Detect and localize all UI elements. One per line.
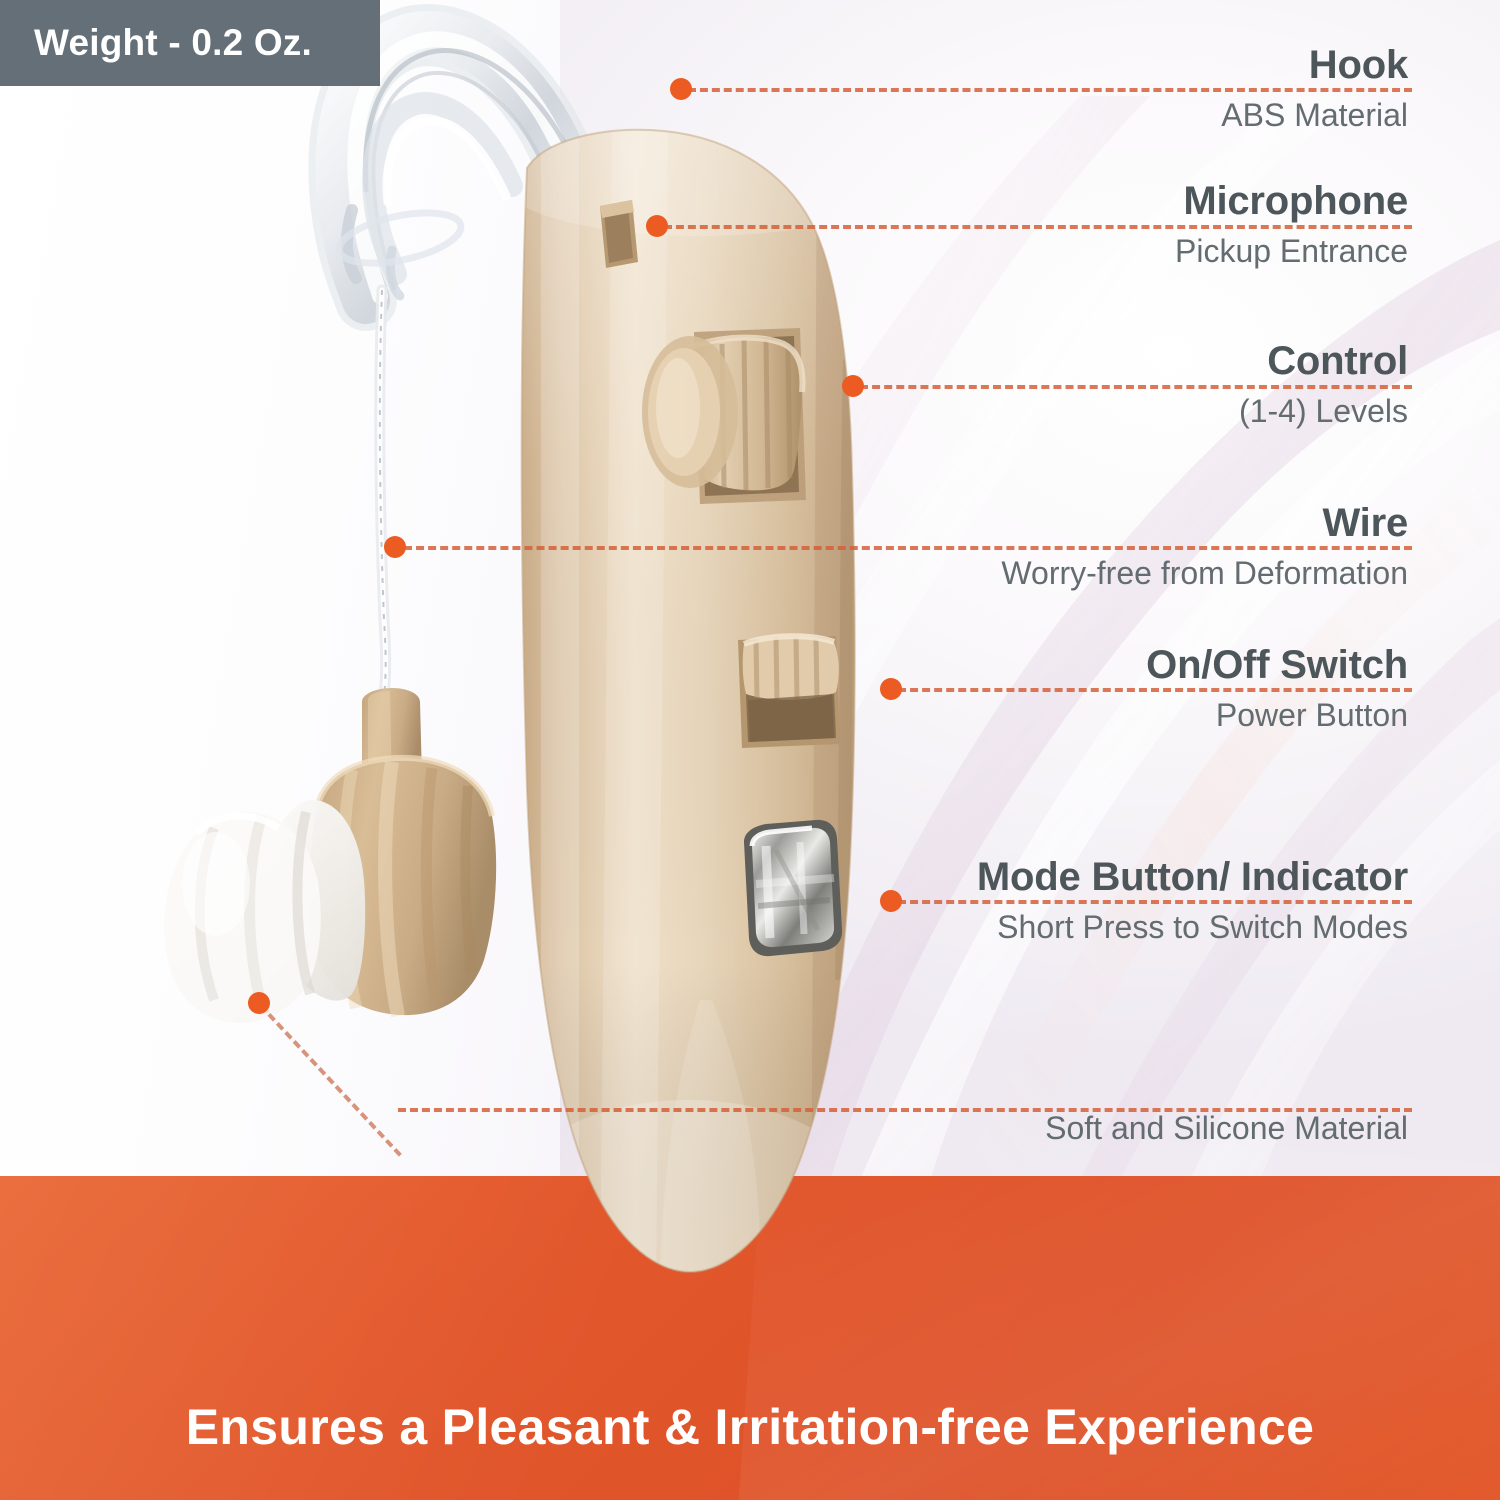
callout-mode-subtitle: Short Press to Switch Modes [977,911,1408,945]
callout-hook-subtitle: ABS Material [1221,99,1408,133]
footer-slogan: Ensures a Pleasant & Irritation-free Exp… [0,1398,1500,1456]
callout-microphone-subtitle: Pickup Entrance [1175,235,1408,269]
callout-wire-subtitle: Worry-free from Deformation [1001,557,1408,591]
anchor-dot-onoff [880,678,902,700]
anchor-dot-hook [670,78,692,100]
callout-mode-title: Mode Button/ Indicator [977,856,1408,898]
callout-eartip: Soft and Silicone Material [1045,1112,1408,1146]
callout-onoff-subtitle: Power Button [1146,699,1408,733]
anchor-dot-wire [384,536,406,558]
weight-badge: Weight - 0.2 Oz. [0,0,380,86]
footer-slogan-text: Ensures a Pleasant & Irritation-free Exp… [186,1399,1314,1455]
callout-hook-title: Hook [1221,44,1408,86]
callout-wire-title: Wire [1001,502,1408,544]
background-left-panel [0,0,560,1180]
anchor-dot-control [842,375,864,397]
callout-onoff-title: On/Off Switch [1146,644,1408,686]
anchor-dot-microphone [646,215,668,237]
callout-wire: Wire Worry-free from Deformation [1001,502,1408,591]
callout-eartip-subtitle: Soft and Silicone Material [1045,1112,1408,1146]
infographic-canvas: Weight - 0.2 Oz. Hook ABS Material Micro… [0,0,1500,1500]
callout-microphone-title: Microphone [1175,180,1408,222]
callout-microphone: Microphone Pickup Entrance [1175,180,1408,269]
callout-hook: Hook ABS Material [1221,44,1408,133]
callout-control: Control (1-4) Levels [1239,340,1408,429]
callout-onoff: On/Off Switch Power Button [1146,644,1408,733]
anchor-dot-eartip [248,992,270,1014]
callout-control-subtitle: (1-4) Levels [1239,395,1408,429]
weight-badge-label: Weight - 0.2 Oz. [34,22,312,64]
anchor-dot-mode [880,890,902,912]
callout-mode: Mode Button/ Indicator Short Press to Sw… [977,856,1408,945]
callout-control-title: Control [1239,340,1408,382]
